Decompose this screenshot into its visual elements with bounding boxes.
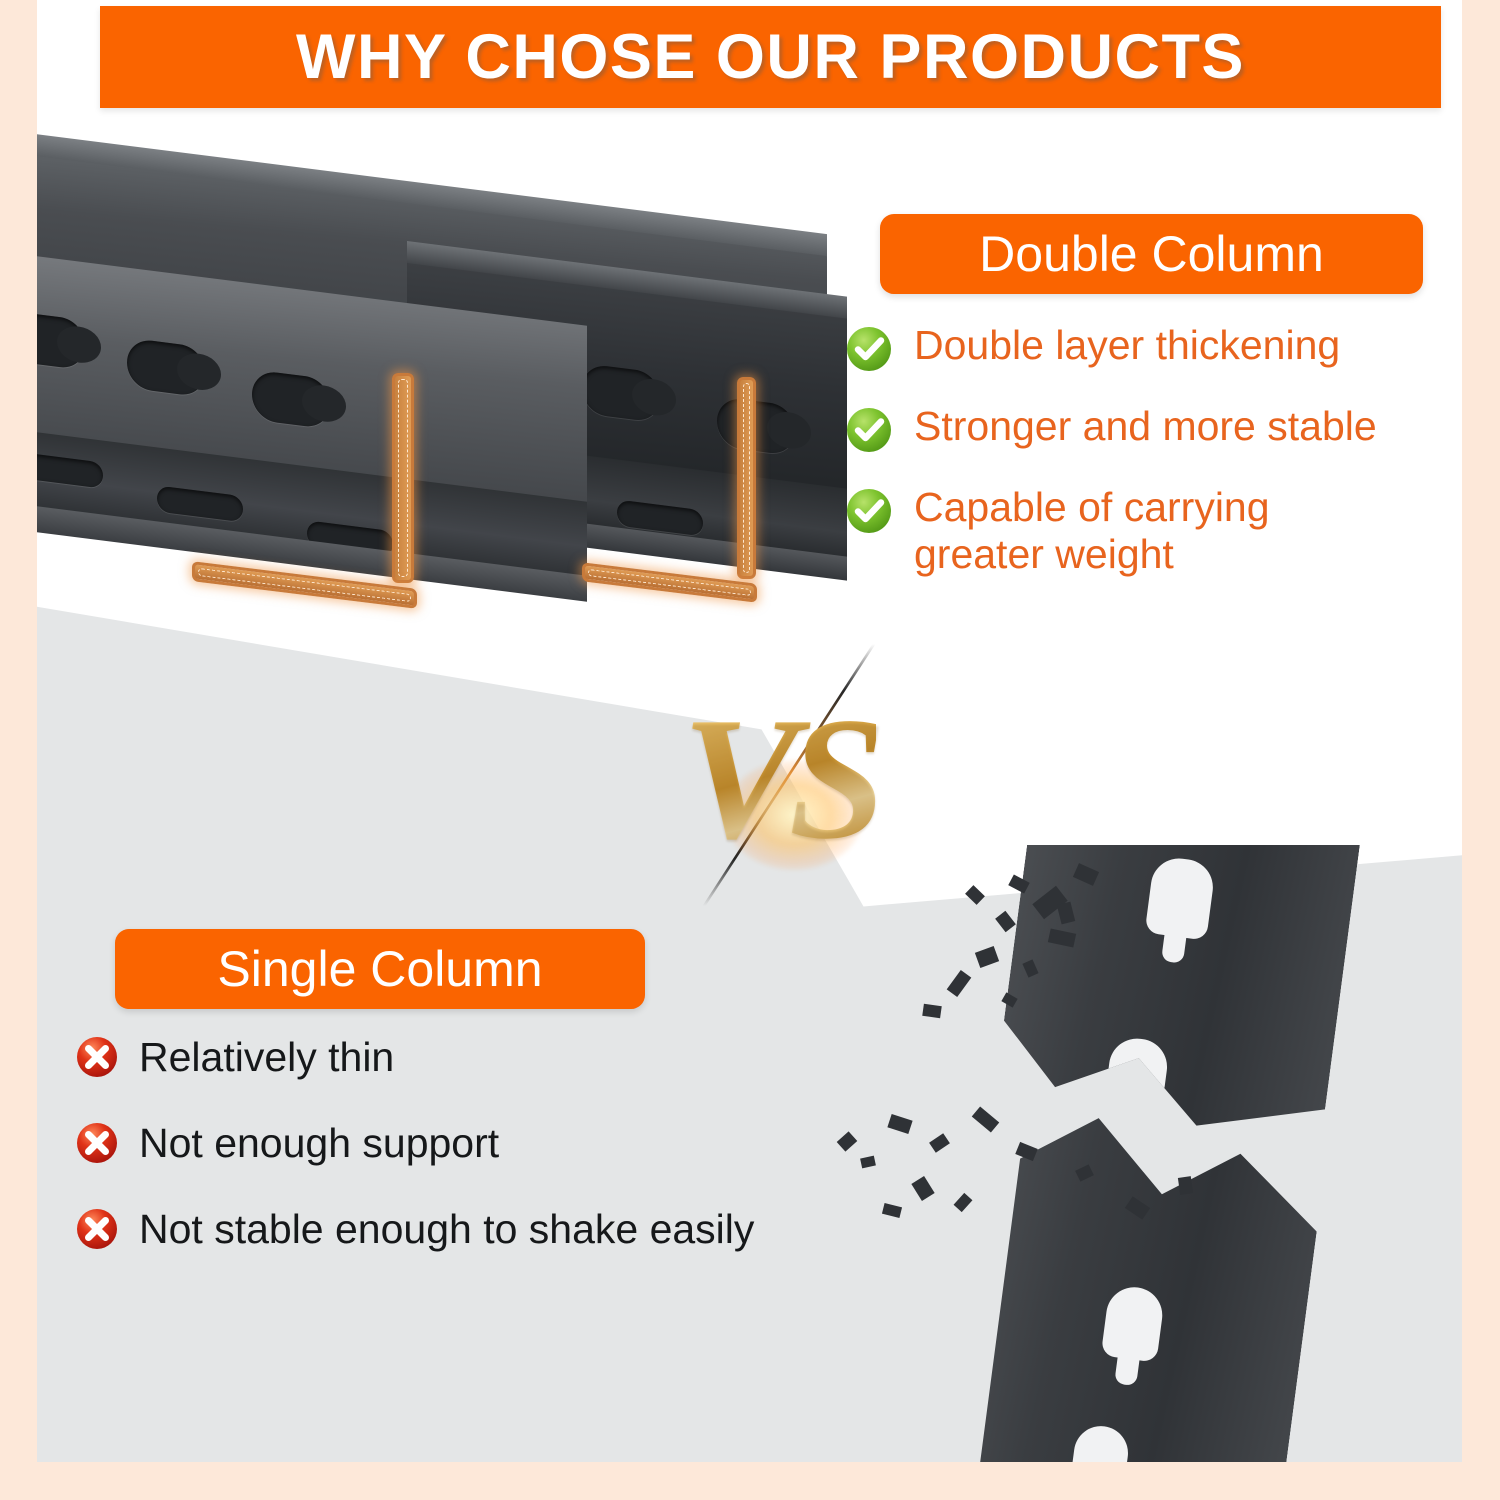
double-column-badge: Double Column <box>880 214 1423 294</box>
debris-shard <box>882 1203 902 1218</box>
keyhole-slot <box>37 310 85 370</box>
debris-shard <box>947 970 972 997</box>
content-canvas: WHY CHOSE OUR PRODUCTS <box>37 0 1462 1462</box>
oval-slot <box>157 485 243 522</box>
cross-circle-icon <box>75 1121 119 1165</box>
double-column-badge-label: Double Column <box>979 225 1324 283</box>
copper-edge-highlight-vertical <box>392 373 414 583</box>
debris-shard <box>837 1131 858 1151</box>
debris-shard <box>995 911 1016 932</box>
single-column-photo <box>827 845 1462 1462</box>
list-item: Stronger and more stable <box>845 403 1445 454</box>
list-item: Not stable enough to shake easily <box>75 1206 905 1252</box>
list-item: Double layer thickening <box>845 322 1445 373</box>
page-title-banner: WHY CHOSE OUR PRODUCTS <box>100 6 1441 108</box>
keyhole-slot <box>1069 1423 1131 1462</box>
debris-shard <box>954 1193 973 1212</box>
cross-circle-icon <box>75 1035 119 1079</box>
list-item-label: Not stable enough to shake easily <box>119 1206 754 1252</box>
page-title: WHY CHOSE OUR PRODUCTS <box>296 21 1245 93</box>
debris-shard <box>860 1156 876 1169</box>
single-column-badge-label: Single Column <box>217 940 542 998</box>
keyhole-slot <box>1101 1284 1166 1363</box>
check-circle-icon <box>845 406 893 454</box>
check-circle-icon <box>845 487 893 535</box>
keyhole-slot <box>717 396 795 456</box>
double-column-benefit-list: Double layer thickening Stronger and mor… <box>845 322 1445 608</box>
debris-shard <box>975 946 999 968</box>
infographic-page: WHY CHOSE OUR PRODUCTS <box>0 0 1500 1500</box>
keyhole-slot <box>1145 855 1217 940</box>
debris-shard <box>911 1176 934 1201</box>
check-circle-icon <box>845 325 893 373</box>
list-item-label: Capable of carrying greater weight <box>893 484 1270 578</box>
keyhole-slot <box>582 363 660 423</box>
list-item: Relatively thin <box>75 1034 905 1080</box>
keyhole-slot <box>127 338 205 398</box>
cross-circle-icon <box>75 1207 119 1251</box>
single-column-badge: Single Column <box>115 929 645 1009</box>
list-item-label: Not enough support <box>119 1120 499 1166</box>
double-column-photo <box>37 145 862 615</box>
list-item-label: Stronger and more stable <box>893 403 1377 450</box>
keyhole-slot <box>252 369 330 429</box>
debris-shard <box>965 885 985 905</box>
list-item-label: Relatively thin <box>119 1034 394 1080</box>
copper-edge-highlight-vertical-2 <box>737 377 756 579</box>
debris-shard <box>972 1106 1000 1132</box>
copper-edge-highlight-horizontal-2 <box>582 562 757 602</box>
list-item: Not enough support <box>75 1120 905 1166</box>
debris-shard <box>929 1133 950 1152</box>
list-item-label: Double layer thickening <box>893 322 1340 369</box>
keyhole-slot <box>1105 1035 1170 1100</box>
broken-post-lower-section <box>949 1080 1331 1462</box>
list-item: Capable of carrying greater weight <box>845 484 1445 578</box>
oval-slot <box>37 452 103 489</box>
debris-shard <box>887 1114 912 1134</box>
debris-shard <box>922 1004 941 1018</box>
debris-shard <box>1178 1176 1193 1195</box>
single-column-drawback-list: Relatively thin Not enough support <box>75 1034 905 1292</box>
